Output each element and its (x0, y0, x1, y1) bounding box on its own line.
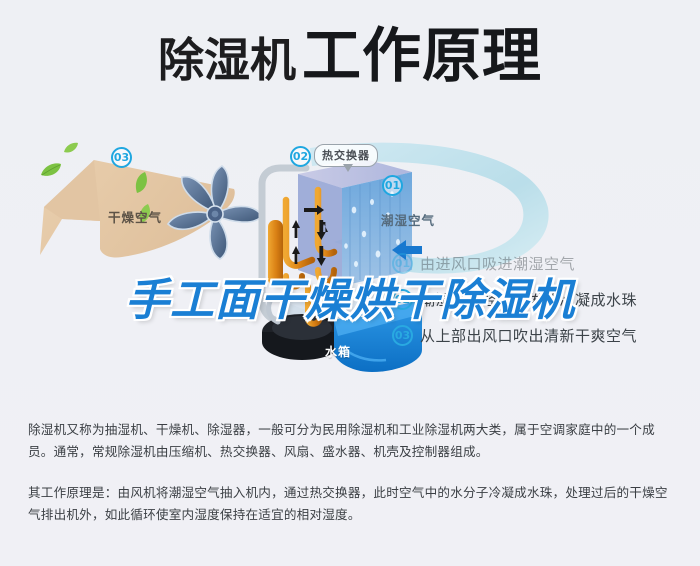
label-water-tank: 水箱 (325, 343, 351, 360)
leaf-icon (40, 162, 62, 178)
page-title: 除湿机工作原理 (0, 26, 700, 85)
label-moist-air: 潮湿空气 (381, 210, 435, 229)
leaf-icon (134, 172, 150, 194)
paragraph-1-text: 除湿机又称为抽湿机、干燥机、除湿器，一般可分为民用除湿机和工业除湿机两大类，属于… (28, 419, 672, 463)
watermark-text: 手工面干燥烘干除湿机 (0, 264, 700, 328)
diagram-badge-01: 01 (382, 175, 403, 196)
description-paragraph-1: 除湿机又称为抽湿机、干燥机、除湿器，一般可分为民用除湿机和工业除湿机两大类，属于… (28, 419, 672, 463)
title-part-secondary: 工作原理 (302, 21, 542, 90)
title-part-primary: 除湿机 (158, 33, 296, 87)
leaf-icon (63, 142, 79, 154)
label-dry-air: 干燥空气 (108, 207, 162, 226)
diagram-badge-03: 03 (111, 147, 132, 168)
diagram-badge-02: 02 (290, 146, 311, 167)
infographic-page: 除湿机工作原理 (0, 0, 700, 566)
callout-tail-icon (343, 164, 353, 172)
description-paragraph-2: 其工作原理是：由风机将潮湿空气抽入机内，通过热交换器，此时空气中的水分子冷凝成水… (28, 482, 672, 526)
paragraph-2-text: 其工作原理是：由风机将潮湿空气抽入机内，通过热交换器，此时空气中的水分子冷凝成水… (28, 482, 672, 526)
